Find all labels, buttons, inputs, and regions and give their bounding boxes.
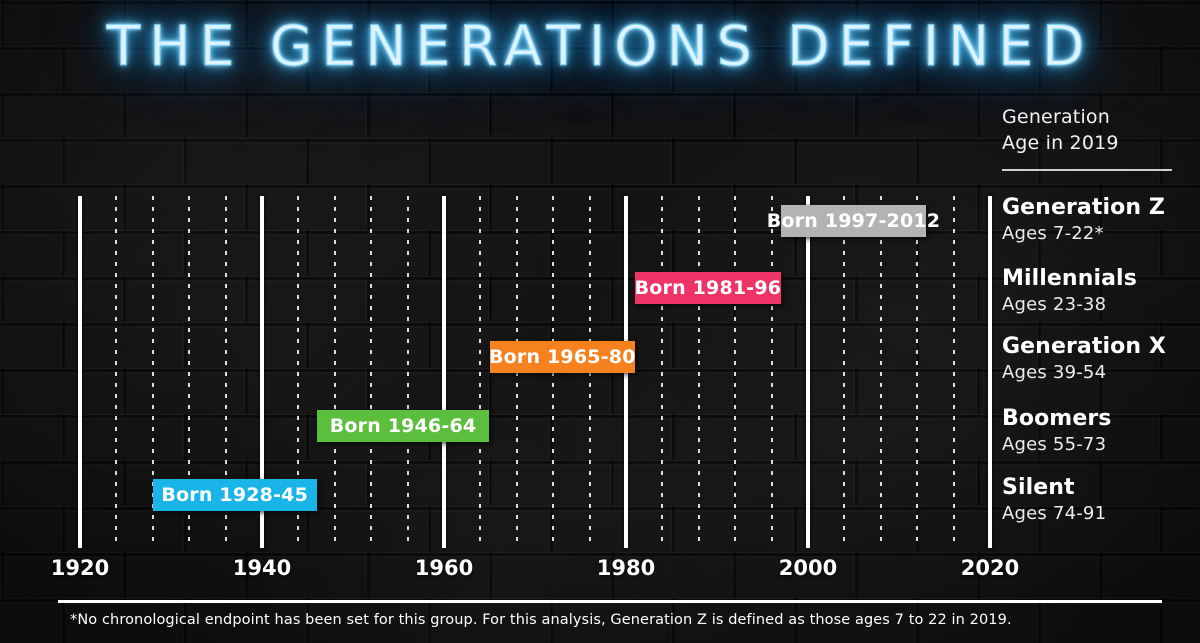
gridline-minor: [334, 196, 336, 548]
legend-item-ages: Ages 23-38: [1002, 293, 1200, 317]
gridline-minor: [880, 196, 882, 548]
gridline-minor: [916, 196, 918, 548]
legend-item-name: Generation X: [1002, 334, 1200, 360]
legend-header-line2: Age in 2019: [1002, 131, 1200, 157]
axis-tick-label: 1920: [51, 556, 109, 580]
axis-tick-label: 1980: [597, 556, 655, 580]
generation-bar: Born 1946-64: [317, 410, 490, 442]
axis-tick-label: 1960: [415, 556, 473, 580]
gridline-minor: [407, 196, 409, 548]
axis-tick-label: 1940: [233, 556, 291, 580]
axis-tick-label: 2000: [779, 556, 837, 580]
legend-item: Generation XAges 39-54: [1002, 334, 1200, 385]
gridline-minor: [661, 196, 663, 548]
legend-item-name: Generation Z: [1002, 195, 1200, 221]
generation-bar: Born 1965-80: [490, 341, 636, 373]
gridline-minor: [953, 196, 955, 548]
gridline-major: [806, 196, 810, 548]
infographic-root: THE GENERATIONS DEFINED 1920194019601980…: [0, 0, 1200, 643]
legend-item-name: Boomers: [1002, 406, 1200, 432]
legend-item-name: Silent: [1002, 475, 1200, 501]
axis-tick-label: 2020: [961, 556, 1019, 580]
footnote: *No chronological endpoint has been set …: [70, 612, 1012, 628]
footnote-divider: [58, 600, 1162, 603]
gridline-minor: [115, 196, 117, 548]
generation-bar: Born 1981-96: [635, 272, 781, 304]
generation-bar: Born 1928-45: [153, 479, 317, 511]
legend-header-underline: [1002, 169, 1172, 171]
gridline-minor: [370, 196, 372, 548]
legend-header-line1: Generation: [1002, 105, 1200, 131]
gridline-minor: [843, 196, 845, 548]
legend-item: Generation ZAges 7-22*: [1002, 195, 1200, 246]
legend: Generation Age in 2019: [1002, 105, 1200, 171]
legend-item: BoomersAges 55-73: [1002, 406, 1200, 457]
legend-item-ages: Ages 7-22*: [1002, 222, 1200, 246]
timeline-plot-area: 192019401960198020002020Born 1997-2012Bo…: [0, 0, 1200, 643]
legend-item-ages: Ages 39-54: [1002, 361, 1200, 385]
legend-item-name: Millennials: [1002, 266, 1200, 292]
gridline-major: [78, 196, 82, 548]
legend-divider-vertical: [988, 196, 992, 548]
gridline-minor: [771, 196, 773, 548]
gridline-major: [442, 196, 446, 548]
legend-header: Generation Age in 2019: [1002, 105, 1200, 156]
gridline-minor: [734, 196, 736, 548]
legend-item: SilentAges 74-91: [1002, 475, 1200, 526]
gridline-minor: [479, 196, 481, 548]
legend-item: MillennialsAges 23-38: [1002, 266, 1200, 317]
legend-item-ages: Ages 55-73: [1002, 433, 1200, 457]
gridline-minor: [698, 196, 700, 548]
legend-item-ages: Ages 74-91: [1002, 502, 1200, 526]
generation-bar: Born 1997-2012: [781, 205, 927, 237]
